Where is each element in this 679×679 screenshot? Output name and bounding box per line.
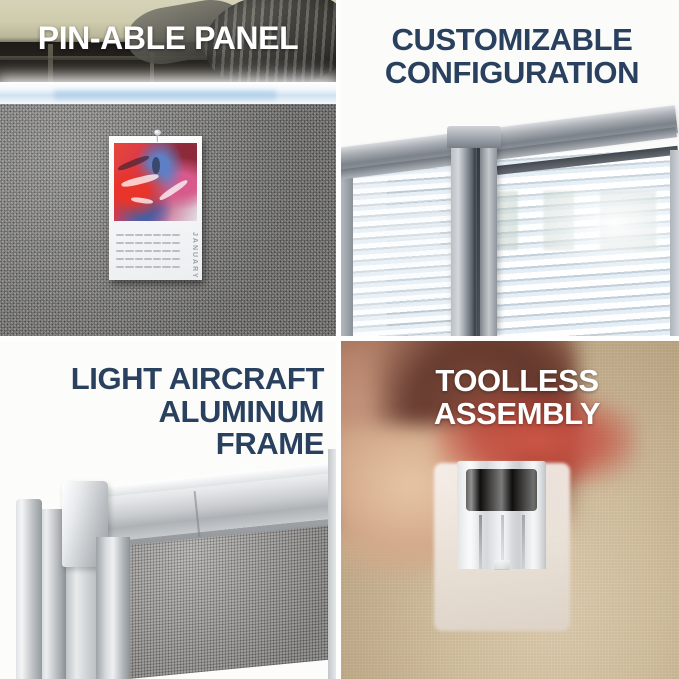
caption-pin-able-panel: PIN-ABLE PANEL (0, 22, 336, 56)
profile-cavity (466, 469, 537, 511)
light-glow (54, 88, 276, 102)
calendar-artwork (114, 143, 197, 221)
aluminum-extrusion-profile (457, 461, 546, 569)
frame-post-front (16, 499, 42, 679)
profile-rib (479, 515, 482, 569)
calendar-month-label: JANUARY (186, 232, 198, 268)
wall-calendar: JANUARY (109, 136, 202, 280)
profile-rib (522, 515, 525, 569)
horizontal-divider (0, 336, 679, 341)
left-glass-panel (341, 168, 453, 336)
caption-customizable-configuration: CUSTOMIZABLE CONFIGURATION (351, 24, 673, 89)
left-frame-edge (341, 160, 353, 336)
post-seam (477, 134, 480, 336)
post-cap (447, 126, 501, 148)
connector-post (451, 134, 497, 336)
daylight-glow (527, 172, 679, 274)
feature-grid: JANUARY PIN-ABLE PANEL (0, 0, 679, 679)
right-frame-edge (328, 449, 336, 679)
push-pin-icon (152, 129, 163, 142)
frame-vertical-stile (96, 537, 130, 679)
fabric-panel (128, 525, 336, 679)
caption-light-aircraft-aluminum-frame: LIGHT AIRCRAFT ALUMINUM FRAME (8, 363, 324, 461)
calendar-date-grid (116, 232, 180, 266)
caption-toolless-assembly: TOOLLESS ASSEMBLY (361, 365, 673, 430)
right-frame-edge (670, 150, 679, 336)
panel-light-aircraft-aluminum-frame: LIGHT AIRCRAFT ALUMINUM FRAME (0, 341, 336, 679)
panel-customizable-configuration: CUSTOMIZABLE CONFIGURATION (341, 0, 679, 336)
panel-pin-able-panel: JANUARY PIN-ABLE PANEL (0, 0, 336, 336)
panel-toolless-assembly: TOOLLESS ASSEMBLY (341, 341, 679, 679)
profile-notch (494, 560, 510, 570)
